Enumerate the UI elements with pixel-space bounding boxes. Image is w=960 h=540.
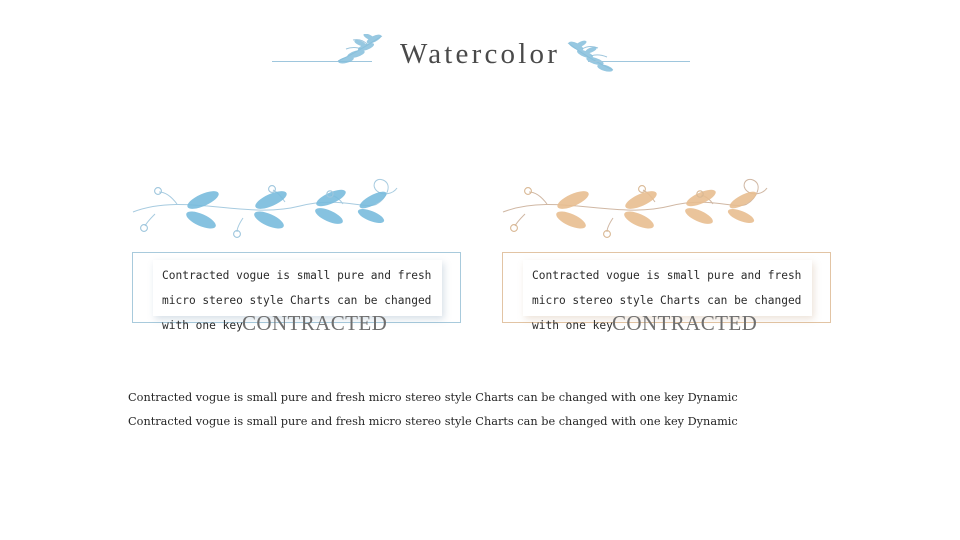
card-right: Contracted vogue is small pure and fresh… (495, 170, 840, 335)
page-title: Watercolor (0, 38, 960, 70)
leaf-branch-tan-icon (495, 170, 775, 250)
title-rule-right-icon (588, 61, 690, 62)
card-left: Contracted vogue is small pure and fresh… (125, 170, 470, 335)
footer-line-1: Contracted vogue is small pure and fresh… (128, 386, 832, 410)
card-right-line-2: micro stereo style Charts can be changed (532, 288, 822, 313)
footer-paragraph: Contracted vogue is small pure and fresh… (128, 386, 832, 434)
card-right-heading: CONTRACTED (612, 311, 757, 335)
card-left-line-2: micro stereo style Charts can be changed (162, 288, 452, 313)
footer-line-2: Contracted vogue is small pure and fresh… (128, 410, 832, 434)
card-left-heading: CONTRACTED (242, 311, 387, 335)
leaf-sprig-right-icon (565, 40, 617, 76)
leaf-branch-blue-icon (125, 170, 405, 250)
card-left-line-1: Contracted vogue is small pure and fresh (162, 263, 452, 288)
title-block: Watercolor (0, 14, 960, 76)
card-right-line-1: Contracted vogue is small pure and fresh (532, 263, 822, 288)
